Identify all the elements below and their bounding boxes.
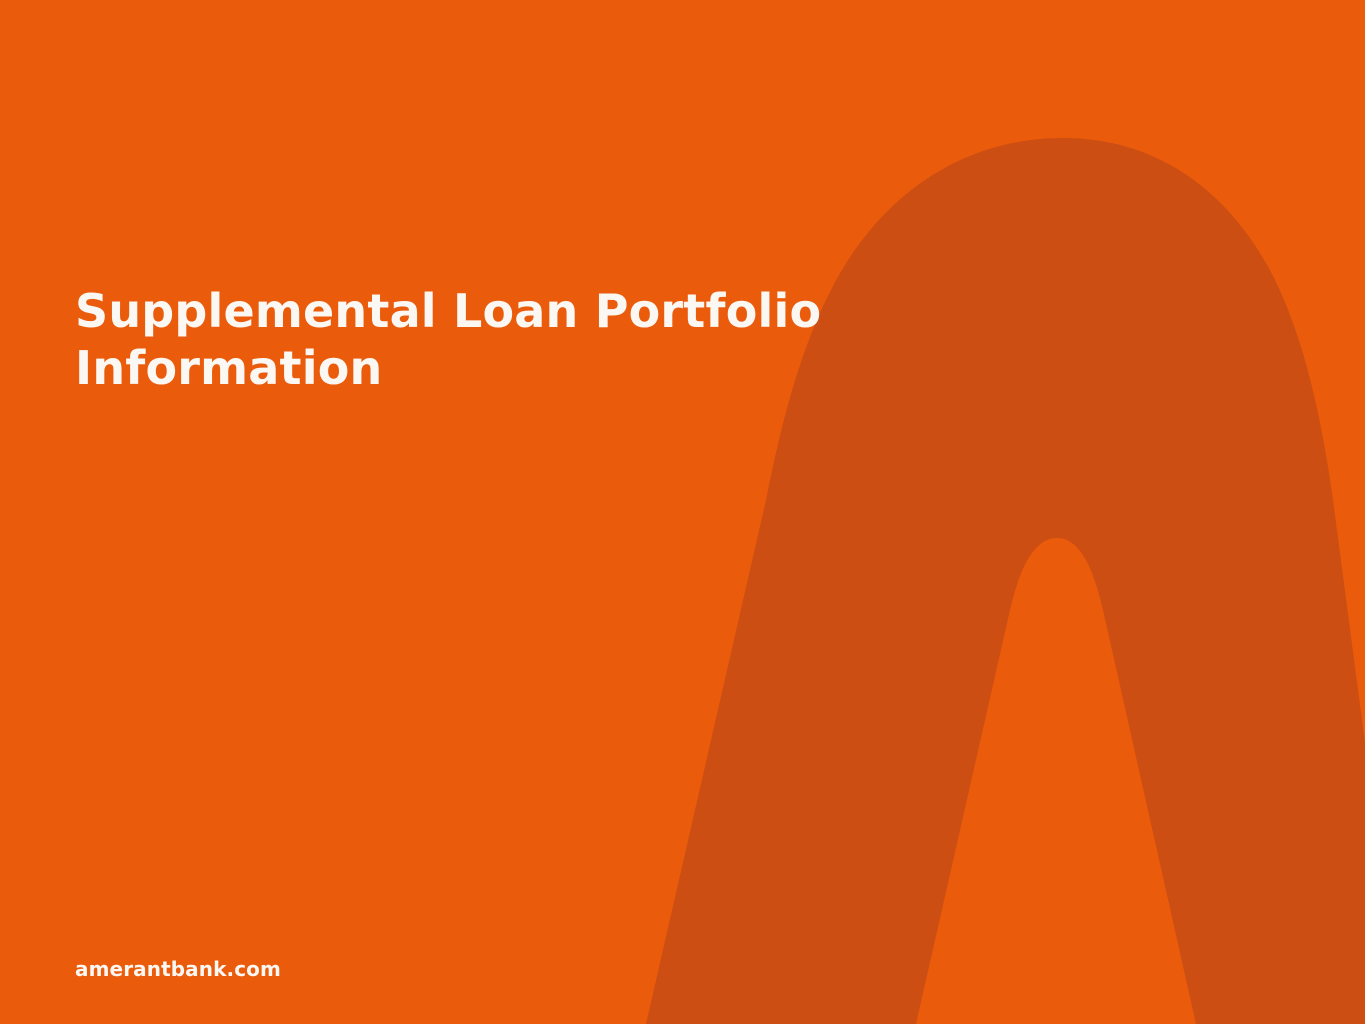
amerant-a-monogram-icon (0, 0, 1365, 1024)
page-title: Supplemental Loan Portfolio Information (75, 283, 875, 397)
footer-website: amerantbank.com (75, 957, 281, 981)
monogram-arch-path (646, 138, 1365, 1024)
page-title-line-1: Supplemental Loan Portfolio (75, 283, 875, 340)
footer-website-label: amerantbank.com (75, 957, 281, 981)
title-slide: Supplemental Loan Portfolio Information … (0, 0, 1365, 1024)
page-title-line-2: Information (75, 340, 875, 397)
